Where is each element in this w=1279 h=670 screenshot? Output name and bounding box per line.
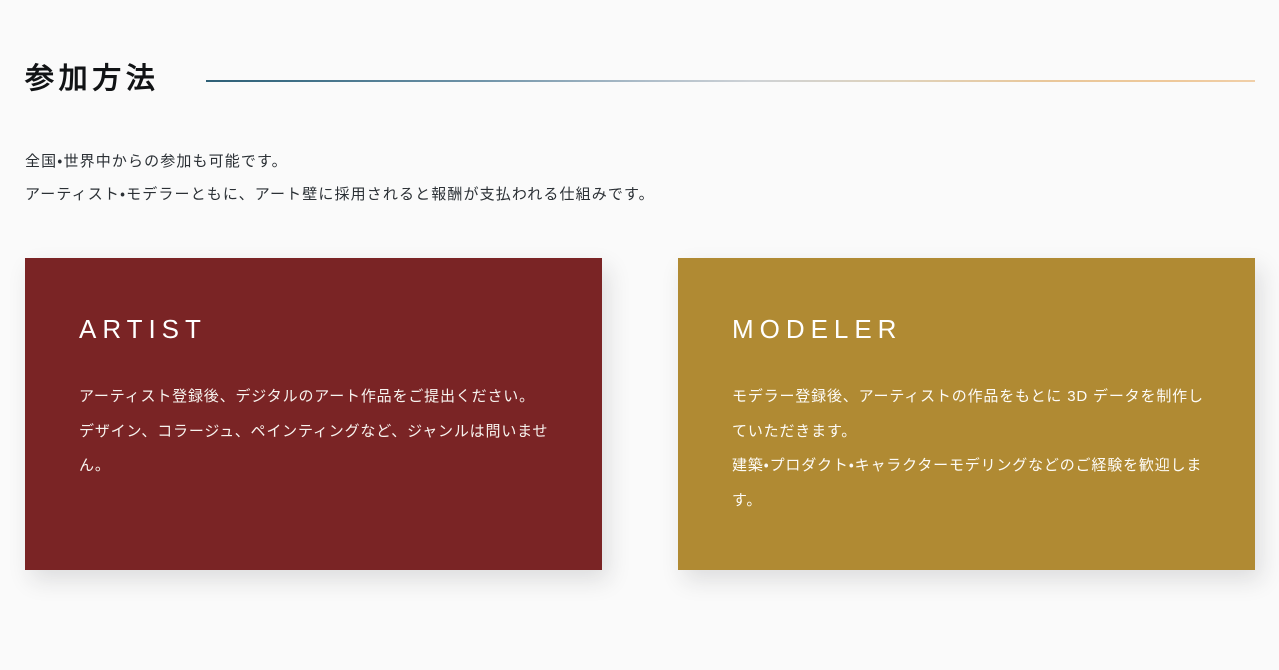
lead-line-2: アーティスト・モデラーともに、アート壁に採用されると報酬が支払われる仕組みです。 xyxy=(25,178,1125,211)
lead-line-1: 全国・世界中からの参加も可能です。 xyxy=(25,145,1125,178)
role-card-modeler: MODELER モデラー登録後、アーティストの作品をもとに 3D データを制作し… xyxy=(678,258,1255,570)
role-card-artist-paragraph-1: アーティスト登録後、デジタルのアート作品をご提出ください。 xyxy=(79,380,558,415)
role-card-artist-body: アーティスト登録後、デジタルのアート作品をご提出ください。 デザイン、コラージュ… xyxy=(79,380,558,484)
role-card-artist-paragraph-2: デザイン、コラージュ、ペインティングなど、ジャンルは問いません。 xyxy=(79,415,558,484)
role-card-modeler-paragraph-2: 建築・プロダクト・キャラクターモデリングなどのご経験を歓迎します。 xyxy=(732,449,1211,518)
role-card-artist: ARTIST アーティスト登録後、デジタルのアート作品をご提出ください。 デザイ… xyxy=(25,258,602,570)
lead-paragraph: 全国・世界中からの参加も可能です。 アーティスト・モデラーともに、アート壁に採用… xyxy=(25,145,1125,211)
title-gradient-rule xyxy=(206,80,1255,82)
page-title: 参加方法 xyxy=(25,62,160,96)
section-header: 参加方法 xyxy=(25,61,1255,97)
role-card-modeler-body: モデラー登録後、アーティストの作品をもとに 3D データを制作していただきます。… xyxy=(732,380,1211,518)
participation-section: 参加方法 全国・世界中からの参加も可能です。 アーティスト・モデラーともに、アー… xyxy=(0,0,1279,670)
role-card-modeler-title: MODELER xyxy=(732,314,1211,344)
role-card-list: ARTIST アーティスト登録後、デジタルのアート作品をご提出ください。 デザイ… xyxy=(25,258,1255,570)
role-card-modeler-paragraph-1: モデラー登録後、アーティストの作品をもとに 3D データを制作していただきます。 xyxy=(732,380,1211,449)
role-card-artist-title: ARTIST xyxy=(79,314,558,344)
